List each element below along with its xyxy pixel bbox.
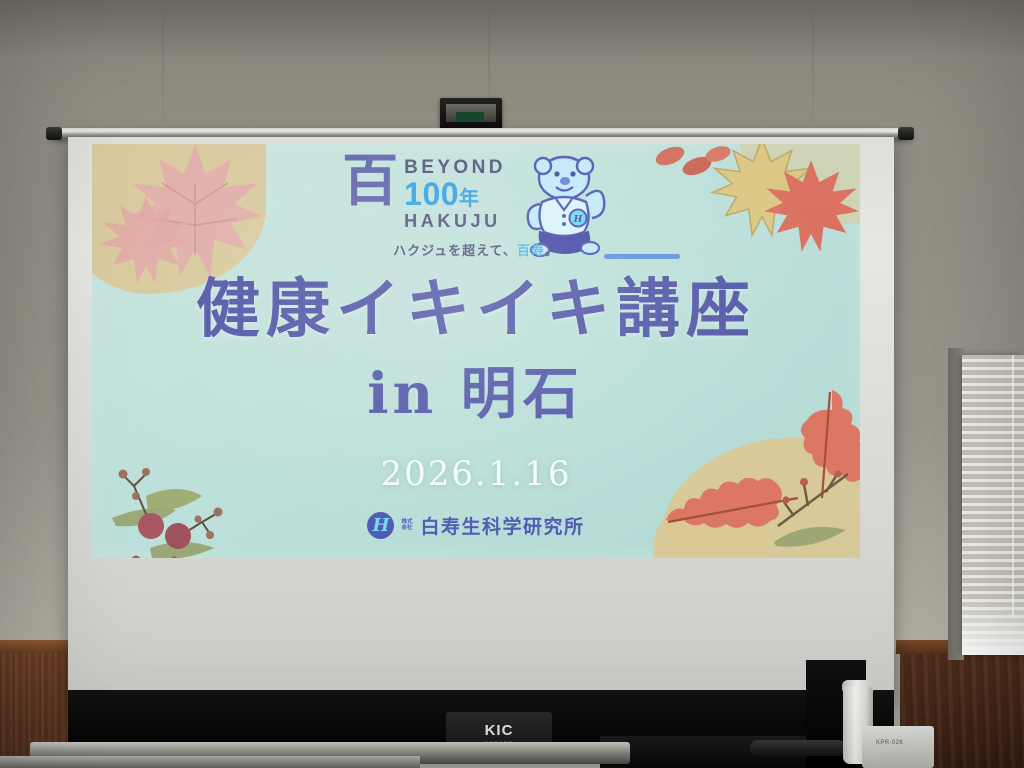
screen-tripod-bar-lower bbox=[0, 756, 420, 768]
slide-title-in: in bbox=[367, 361, 437, 427]
logo-hakuju-text: HAKUJU bbox=[404, 212, 506, 230]
screen-brand-label: KIC bbox=[485, 722, 514, 739]
logo-tagline: ハクジュを超えて、百寿。 bbox=[92, 240, 860, 259]
wall-seam-right bbox=[812, 0, 814, 130]
roller-cap-left bbox=[46, 127, 62, 140]
logo-100nen: 100年 bbox=[404, 178, 506, 210]
svg-text:H: H bbox=[573, 215, 583, 225]
window-daylight-glow bbox=[962, 595, 1024, 655]
slide-title-line2: in 明石 bbox=[92, 366, 860, 423]
projected-slide: 百 BEYOND 100年 HAKUJU bbox=[92, 144, 860, 558]
logo-mark-block: 百 BEYOND 100年 HAKUJU bbox=[342, 152, 506, 230]
ceiling-shadow bbox=[0, 0, 1024, 58]
logo-beyond-text: BEYOND bbox=[404, 158, 506, 177]
white-device[interactable] bbox=[862, 726, 934, 768]
room-photo-scene: 百 BEYOND 100年 HAKUJU bbox=[0, 0, 1024, 768]
slide-title-place: 明石 bbox=[461, 362, 585, 427]
logo-100: 100 bbox=[404, 176, 459, 212]
device-label: KPR-026 bbox=[876, 740, 903, 746]
blind-cord[interactable] bbox=[1012, 355, 1014, 615]
hakuju-h-badge-icon: H bbox=[367, 512, 394, 539]
corp-prefix: 株式 会社 bbox=[401, 520, 412, 531]
slide-footer: H 株式 会社 白寿生科学研究所 bbox=[92, 512, 860, 539]
remote-control[interactable] bbox=[750, 740, 846, 756]
roller-cap-right bbox=[898, 127, 914, 140]
logo-text-block: BEYOND 100年 HAKUJU bbox=[404, 158, 506, 230]
logo-nen: 年 bbox=[459, 188, 480, 210]
tagline-main: ハクジュを超えて、 bbox=[393, 244, 517, 259]
tagline-highlight: 百寿 bbox=[517, 244, 545, 259]
slide-date: 2026.1.16 bbox=[92, 454, 860, 494]
tagline-end: 。 bbox=[545, 244, 559, 259]
wall-seam-left bbox=[162, 0, 164, 130]
window bbox=[962, 355, 1024, 655]
corp-name: 白寿生科学研究所 bbox=[421, 512, 585, 539]
logo-kanji-haku: 百 bbox=[342, 156, 398, 209]
slide-title-line1: 健康イキイキ講座 bbox=[92, 278, 860, 342]
bracket-green-part bbox=[456, 112, 484, 121]
corp-prefix-line2: 会社 bbox=[401, 526, 412, 532]
